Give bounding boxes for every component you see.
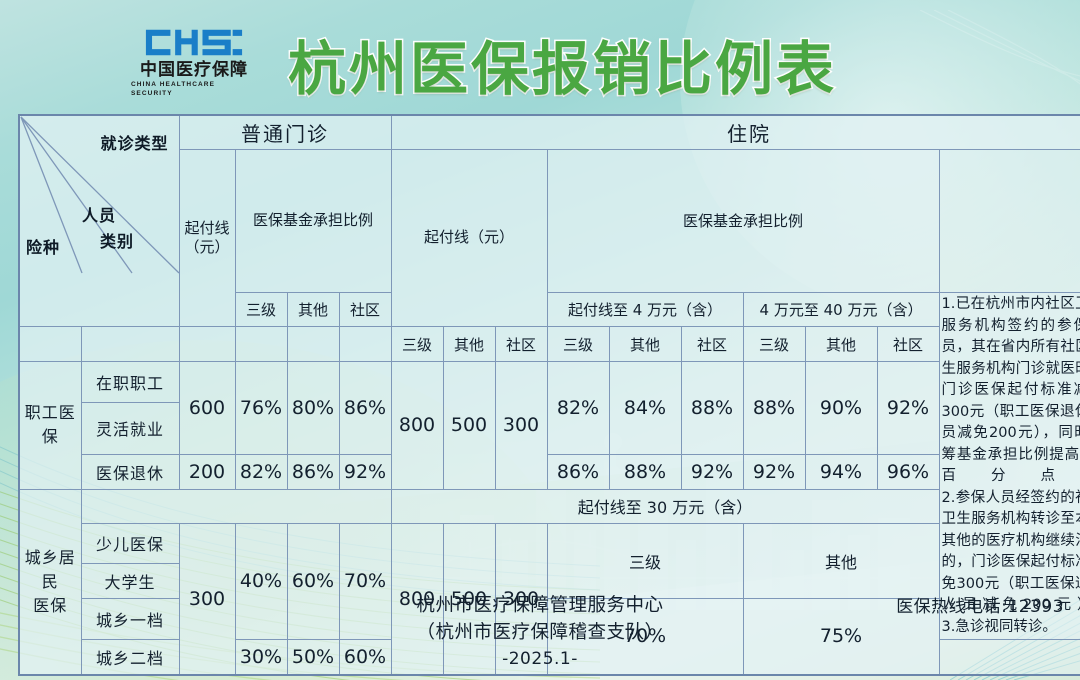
cell-ip-active-b2-oth: 90% [805, 362, 877, 455]
spacer-insurance [19, 327, 81, 362]
header-row-tiers: 三级 其他 社区 三级 其他 社区 三级 其他 社区 [19, 327, 1080, 362]
spacer-op-oth [287, 327, 339, 362]
logo-english-name: CHINA HEALTHCARE SECURITY [131, 80, 257, 98]
logo-chinese-name: 中国医疗保障 [140, 60, 248, 80]
page-header: 中国医疗保障 CHINA HEALTHCARE SECURITY 杭州医保报销比… [0, 0, 1080, 112]
res-tier-oth: 其他 [743, 523, 939, 599]
cell-op-retired-oth: 86% [287, 454, 339, 489]
table-row: 医保退休 200 82% 86% 92% 86% 88% 92% 92% 94%… [19, 454, 1080, 489]
corner-label-person-2: 类别 [100, 228, 134, 252]
chs-logo-mark [141, 26, 247, 59]
cell-ip-active-b1-oth: 84% [609, 362, 681, 455]
tier-b2-oth: 其他 [805, 327, 877, 362]
cell-op-active-3j: 76% [235, 362, 287, 455]
footer-org-alias: （杭州市医疗保障稽查支队） [0, 619, 1080, 646]
subheader-op-fund-ratio: 医保基金承担比例 [235, 149, 391, 293]
band-2-header: 4 万元至 40 万元（含） [743, 293, 939, 327]
cell-ip-active-b2-3j: 88% [743, 362, 805, 455]
header-row-groups: 就诊类型 人员 类别 险种 普通门诊 住院 签约服务待遇 [19, 115, 1080, 149]
resident-tier-row: 少儿医保 300 40% 60% 70% 800 500 300 三级 其他 社… [19, 523, 1080, 564]
tier-ipd-oth: 其他 [443, 327, 495, 362]
subheader-ip-fund-ratio: 医保基金承担比例 [547, 149, 939, 293]
cell-op-retired-com: 92% [339, 454, 391, 489]
cell-op-retired-3j: 82% [235, 454, 287, 489]
page-title: 杭州医保报销比例表 [288, 22, 837, 106]
band-1-header: 起付线至 4 万元（含） [547, 293, 743, 327]
cell-ip-active-b1-com: 88% [681, 362, 743, 455]
cell-ip-deductible-emp-oth: 500 [443, 362, 495, 490]
spacer-op-deductible [179, 327, 235, 362]
tier-b1-oth: 其他 [609, 327, 681, 362]
spacer-person [81, 327, 179, 362]
tier-op-com: 社区 [339, 293, 391, 327]
op-deductible-line1: 起付线 [182, 219, 233, 238]
cell-op-deductible-retired: 200 [179, 454, 235, 489]
cell-ip-retired-b2-com: 96% [877, 454, 939, 489]
footer-date: -2025.1- [0, 646, 1080, 673]
group-header-outpatient: 普通门诊 [179, 115, 391, 149]
tier-ipd-com: 社区 [495, 327, 547, 362]
row-label-child-insurance: 少儿医保 [81, 523, 179, 564]
cell-ip-active-b2-com: 92% [877, 362, 939, 455]
res-tier-3j: 三级 [547, 523, 743, 599]
cell-op-deductible-active: 600 [179, 362, 235, 455]
resident-band-spacer [81, 489, 391, 523]
cell-op-active-oth: 80% [287, 362, 339, 455]
resident-label-line1: 城乡居民 [22, 546, 79, 594]
spacer-op-3j [235, 327, 287, 362]
cell-ip-retired-b2-oth: 94% [805, 454, 877, 489]
cell-op-active-com: 86% [339, 362, 391, 455]
note-1: 1.已在杭州市内社区卫生服务机构签约的参保人员，其在省内所有社区卫生服务机构门诊… [942, 294, 1080, 488]
cell-ip-retired-b1-com: 92% [681, 454, 743, 489]
corner-label-insurance-type: 险种 [26, 234, 60, 258]
tier-op-3j: 三级 [235, 293, 287, 327]
row-label-employee: 职工医保 [19, 362, 81, 490]
subheader-ip-deductible: 起付线（元） [391, 149, 547, 327]
row-label-flexible-employment: 灵活就业 [81, 402, 179, 454]
cell-ip-retired-b1-3j: 86% [547, 454, 609, 489]
group-header-inpatient: 住院 [391, 115, 1080, 149]
tier-op-oth: 其他 [287, 293, 339, 327]
cell-ip-active-b1-3j: 82% [547, 362, 609, 455]
tier-b2-3j: 三级 [743, 327, 805, 362]
hotline-text: 医保热线电话:12393 [896, 592, 1064, 617]
subheader-op-deductible: 起付线 （元） [179, 149, 235, 327]
resident-band-row: 城乡居民 医保 起付线至 30 万元（含） [19, 489, 1080, 523]
spacer-op-com [339, 327, 391, 362]
row-label-retired: 医保退休 [81, 454, 179, 489]
corner-cell: 就诊类型 人员 类别 险种 [19, 115, 179, 327]
cell-ip-retired-b2-3j: 92% [743, 454, 805, 489]
corner-label-visit-type: 就诊类型 [100, 130, 168, 154]
signed-service-notes: 1.已在杭州市内社区卫生服务机构签约的参保人员，其在省内所有社区卫生服务机构门诊… [939, 293, 1080, 640]
row-label-active-worker: 在职职工 [81, 362, 179, 403]
corner-label-person-1: 人员 [82, 202, 116, 226]
tier-ipd-3j: 三级 [391, 327, 443, 362]
cell-ip-retired-b1-oth: 88% [609, 454, 681, 489]
tier-b1-3j: 三级 [547, 327, 609, 362]
op-deductible-line2: （元） [182, 238, 233, 257]
table-row: 职工医保 在职职工 600 76% 80% 86% 800 500 300 82… [19, 362, 1080, 403]
tier-b2-com: 社区 [877, 327, 939, 362]
chs-logo: 中国医疗保障 CHINA HEALTHCARE SECURITY [131, 26, 257, 98]
tier-b1-com: 社区 [681, 327, 743, 362]
cell-ip-deductible-emp-com: 300 [495, 362, 547, 490]
cell-ip-deductible-emp-3j: 800 [391, 362, 443, 490]
resident-band-header: 起付线至 30 万元（含） [391, 489, 939, 523]
